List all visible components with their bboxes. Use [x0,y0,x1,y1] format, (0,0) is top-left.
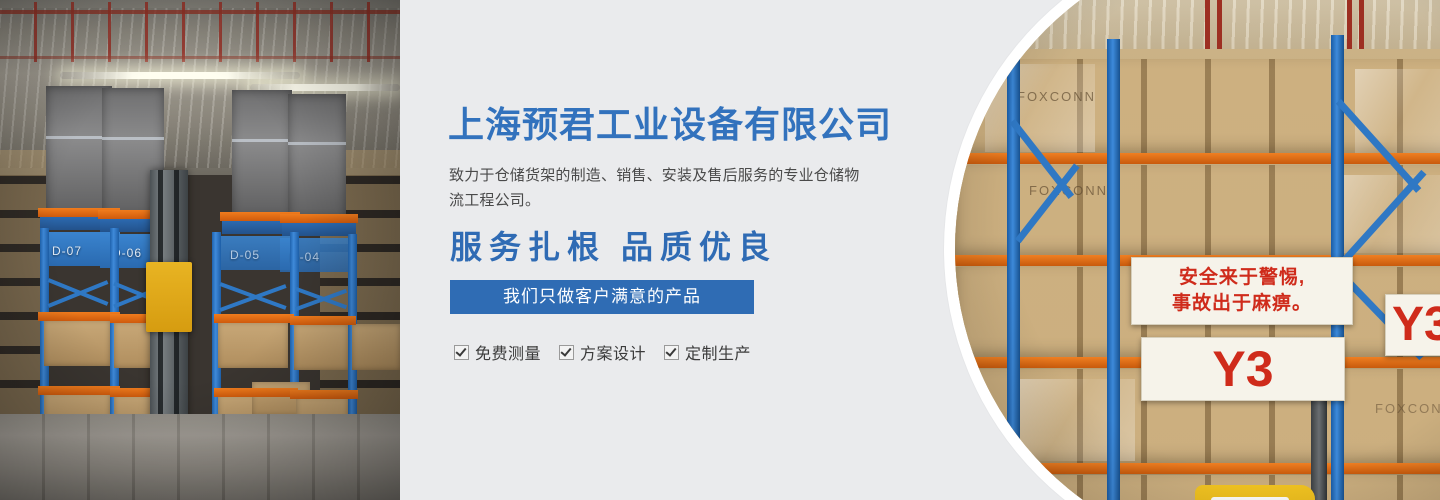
hero-banner: D-07 D-06 D-05 D-04 [0,0,1440,500]
company-title: 上海预君工业设备有限公司 [448,103,892,147]
right-warehouse-photo: FOXCONN FOXCONN FOXCONN [955,0,1440,500]
right-warehouse-photo-wrap: FOXCONN FOXCONN FOXCONN [930,0,1440,500]
feature-list: 免费测量 方案设计 定制生产 [454,340,751,364]
right-photo-vignette [955,0,1440,500]
company-slogan: 服务扎根 品质优良 [450,225,777,269]
left-warehouse-photo: D-07 D-06 D-05 D-04 [0,0,400,500]
feature-label: 定制生产 [685,340,751,364]
feature-item-free-measurement[interactable]: 免费测量 [454,340,541,364]
checkbox-checked-icon [664,345,679,360]
feature-item-scheme-design[interactable]: 方案设计 [559,340,646,364]
banner-content: 上海预君工业设备有限公司 致力于仓储货架的制造、销售、安装及售后服务的专业仓储物… [448,0,918,500]
checkbox-checked-icon [559,345,574,360]
left-photo-vignette [0,0,400,500]
feature-label: 方案设计 [580,340,646,364]
promise-banner: 我们只做客户满意的产品 [450,280,754,314]
checkbox-checked-icon [454,345,469,360]
feature-item-custom-production[interactable]: 定制生产 [664,340,751,364]
feature-label: 免费测量 [475,340,541,364]
company-subtitle: 致力于仓储货架的制造、销售、安装及售后服务的专业仓储物流工程公司。 [449,163,861,213]
